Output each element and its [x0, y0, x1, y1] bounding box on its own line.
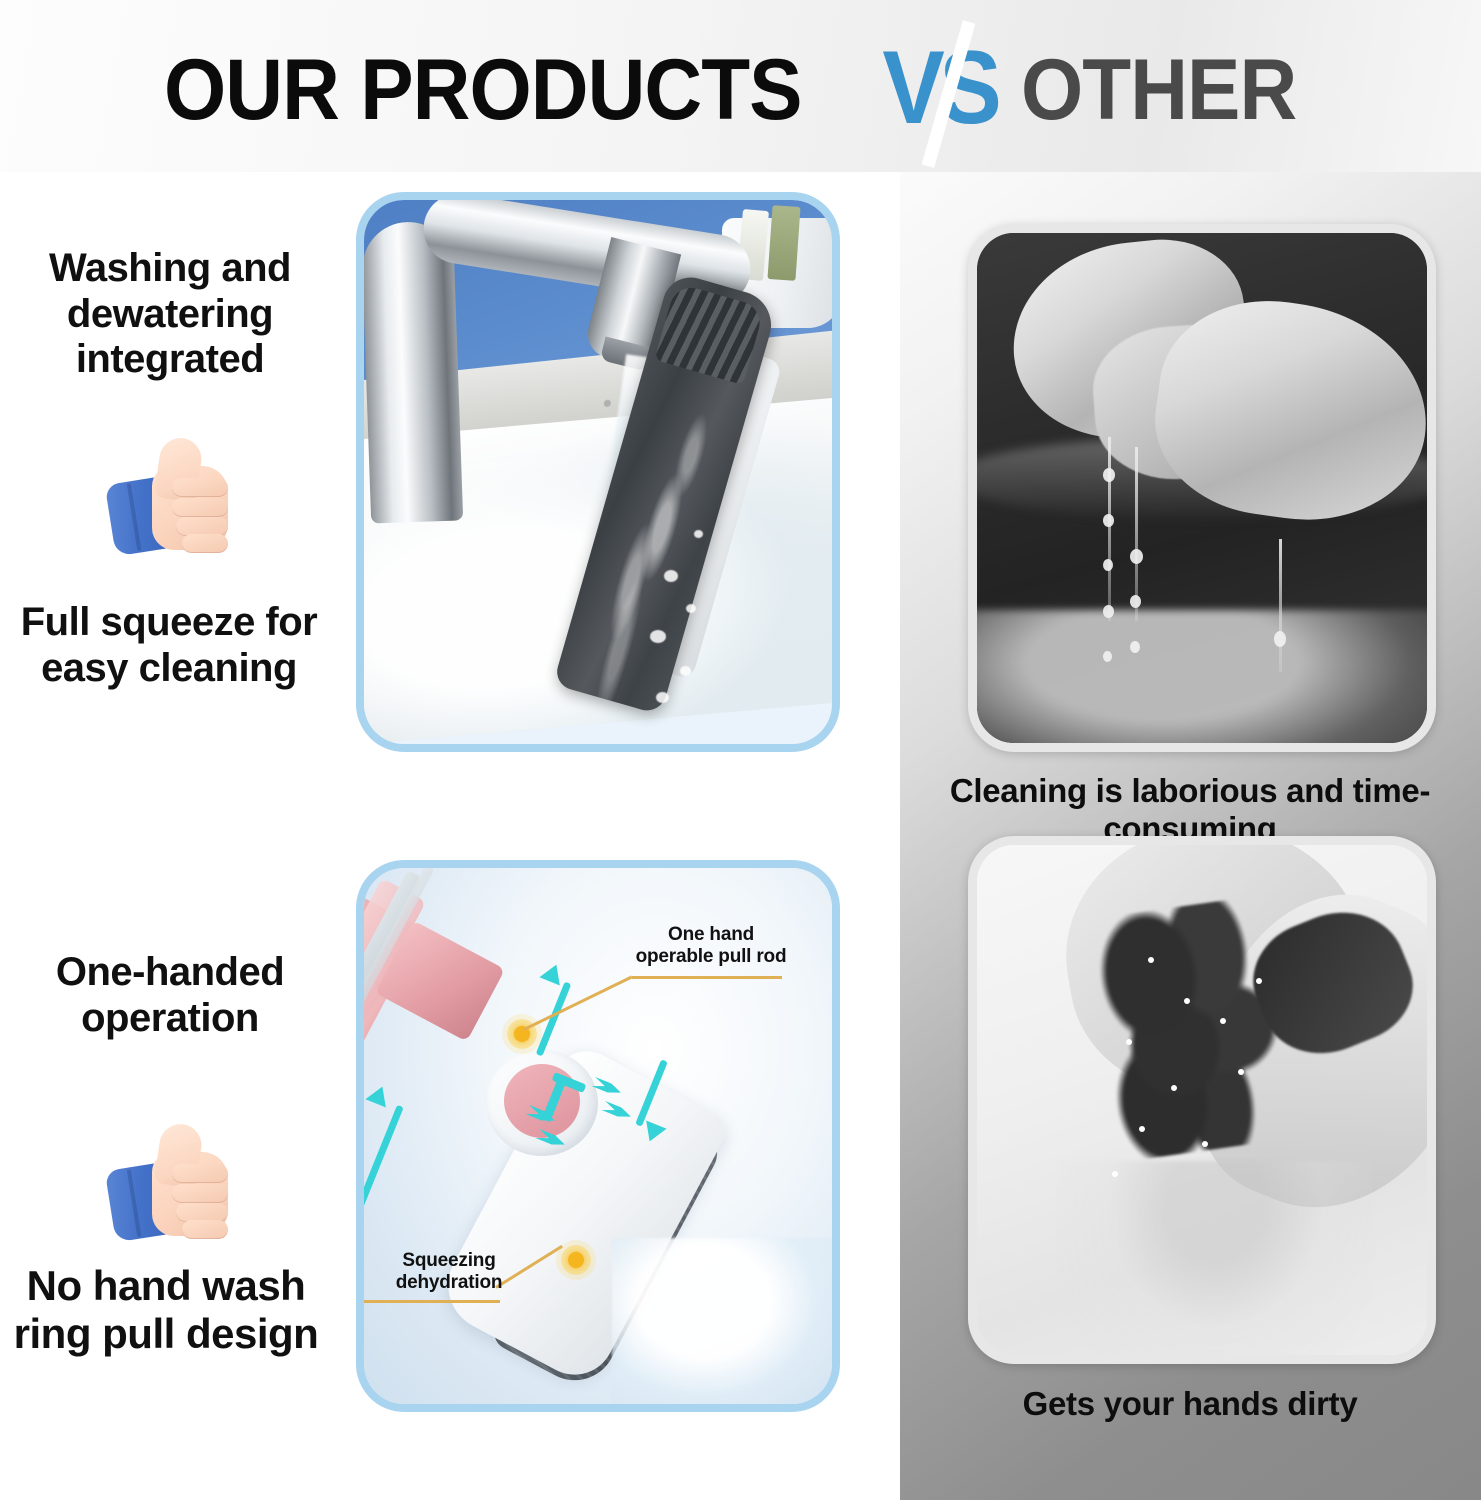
competitor-column: Cleaning is laborious and time-consuming: [900, 172, 1481, 1500]
benefit-label-squeeze: Full squeeze for easy cleaning: [0, 600, 348, 691]
photo-content: [364, 200, 832, 744]
photo-content: [977, 845, 1427, 1355]
housing-head-inner: [504, 1064, 580, 1138]
product-photo-faucet-rinse: [356, 192, 840, 752]
our-products-title: OUR PRODUCTS: [164, 41, 802, 140]
benefit-label-one-handed: One-handed operation: [0, 950, 346, 1041]
water-drop: [1130, 595, 1141, 608]
water-drop: [1130, 641, 1140, 653]
callout-marker-core-2: [568, 1252, 584, 1268]
water-sparkle: [1126, 1039, 1132, 1045]
callout-leader-2: [358, 1300, 500, 1303]
benefit-label-no-hand-wash: No hand wash ring pull design: [0, 1262, 346, 1358]
water-drip-line: [1279, 539, 1282, 672]
vs-badge: VS: [876, 41, 1003, 137]
water-drip-line: [1108, 437, 1111, 621]
other-title: OTHER: [1021, 41, 1296, 140]
water-sparkle: [1184, 998, 1190, 1004]
water-drop: [1103, 468, 1115, 482]
callout-label-pull-rod: One hand operable pull rod: [632, 924, 790, 969]
callout-label-squeezing: Squeezing dehydration: [384, 1250, 514, 1295]
water-drop: [1103, 514, 1114, 527]
competitor-photo-dirty-hands: [968, 836, 1436, 1364]
faucet-body: [361, 220, 463, 523]
water-splash: [1058, 1161, 1373, 1364]
competitor-photo-wringing: [968, 224, 1436, 752]
photo-content: [977, 233, 1427, 743]
water-sparkle: [1202, 1141, 1208, 1147]
water-sparkle: [1139, 1126, 1145, 1132]
competitor-caption-dirty: Gets your hands dirty: [930, 1385, 1450, 1423]
infographic-root: OUR PRODUCTS VS OTHER Washing and dewate…: [0, 0, 1481, 1500]
thumbs-up-icon: [104, 1122, 232, 1242]
water-drop: [1274, 631, 1286, 647]
benefit-label-washing: Washing and dewatering integrated: [0, 246, 346, 383]
soapy-water: [968, 610, 1436, 752]
water-sparkle: [1256, 978, 1262, 984]
callout-leader-1: [632, 976, 782, 979]
product-diagram-pull-rod: One hand operable pull rod Squeezing deh…: [356, 860, 840, 1412]
water-splash: [612, 1238, 840, 1412]
thumbs-up-icon: [104, 436, 232, 556]
water-sparkle: [1171, 1085, 1177, 1091]
header-banner: OUR PRODUCTS VS OTHER: [0, 0, 1481, 172]
header-title-row: OUR PRODUCTS VS OTHER: [164, 37, 1316, 140]
diagram-content: One hand operable pull rod Squeezing deh…: [364, 868, 832, 1404]
